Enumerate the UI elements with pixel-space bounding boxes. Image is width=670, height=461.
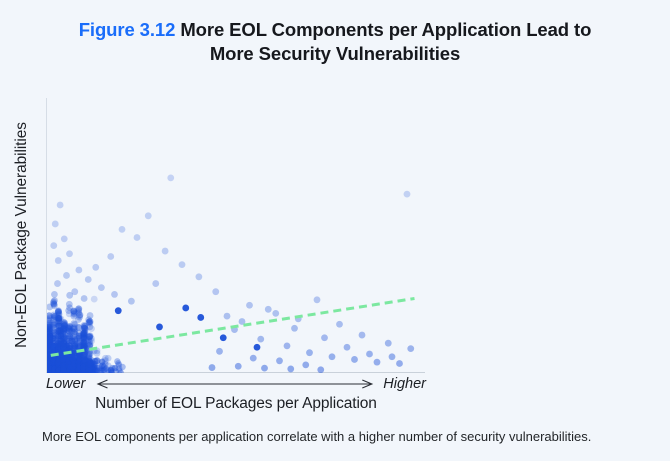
figure-caption: More EOL components per application corr… [42,428,642,446]
figure-number-label: Figure 3.12 [79,19,176,40]
x-axis-higher-label: Higher [383,376,426,392]
scatter-plot-canvas [47,98,426,373]
figure-title: Figure 3.12 More EOL Components per Appl… [55,18,615,66]
scatter-chart-plot-area: Non-EOL Package Vulnerabilities [46,98,425,373]
x-axis-label: Number of EOL Packages per Application [46,395,426,413]
x-axis-direction-row: Lower Higher [46,374,426,393]
figure-container: Figure 3.12 More EOL Components per Appl… [0,0,670,461]
double-headed-arrow-icon [92,378,378,390]
figure-title-text: More EOL Components per Application Lead… [180,19,591,64]
y-axis-label: Non-EOL Package Vulnerabilities [13,90,31,380]
x-axis-lower-label: Lower [46,376,86,392]
